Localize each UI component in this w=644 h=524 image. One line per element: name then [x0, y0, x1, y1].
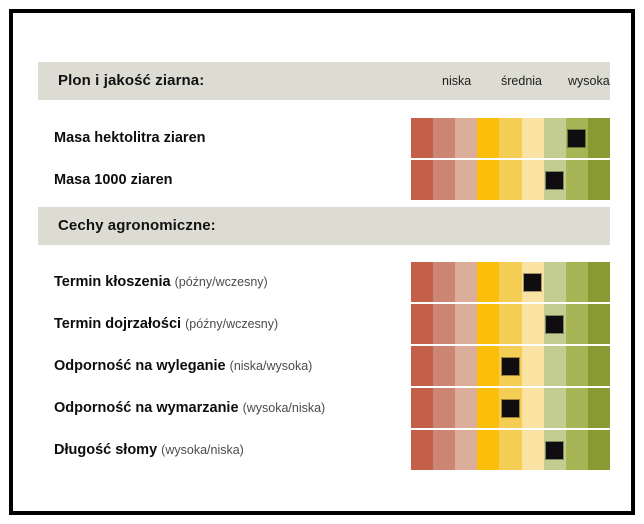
- section-header: Plon i jakość ziarna:niskaśredniawysoka: [38, 62, 610, 100]
- trait-scale-bar: [411, 388, 610, 428]
- trait-value-marker: [546, 442, 563, 459]
- scale-band-2: [433, 262, 455, 302]
- trait-scale-bar: [411, 118, 610, 158]
- trait-row-label: Termin kłoszenia (późny/wczesny): [54, 274, 268, 290]
- scale-band-3: [455, 262, 477, 302]
- scale-band-5: [499, 262, 521, 302]
- scale-legend: niskaśredniawysoka: [38, 74, 610, 92]
- trait-direction-note: (wysoka/niska): [243, 401, 326, 415]
- trait-name: Termin dojrzałości: [54, 316, 181, 332]
- screenshot-frame: Plon i jakość ziarna:niskaśredniawysokaM…: [0, 0, 644, 524]
- scale-band-1: [411, 118, 433, 158]
- scale-label-3: wysoka: [568, 74, 610, 88]
- trait-row-label: Termin dojrzałości (późny/wczesny): [54, 316, 278, 332]
- scale-band-6: [522, 388, 544, 428]
- trait-name: Masa 1000 ziaren: [54, 172, 173, 188]
- scale-band-6: [522, 304, 544, 344]
- section-title: Cechy agronomiczne:: [58, 217, 216, 234]
- scale-band-4: [477, 346, 499, 386]
- scale-band-2: [433, 388, 455, 428]
- scale-band-5: [499, 118, 521, 158]
- trait-row-label: Odporność na wyleganie (niska/wysoka): [54, 358, 312, 374]
- scale-band-9: [588, 388, 610, 428]
- trait-name: Termin kłoszenia: [54, 274, 171, 290]
- scale-band-3: [455, 430, 477, 470]
- scale-band-4: [477, 118, 499, 158]
- scale-band-6: [522, 430, 544, 470]
- scale-band-8: [566, 430, 588, 470]
- scale-band-8: [566, 160, 588, 200]
- trait-row-label: Odporność na wymarzanie (wysoka/niska): [54, 400, 325, 416]
- scale-band-3: [455, 118, 477, 158]
- scale-band-1: [411, 388, 433, 428]
- trait-value-marker: [502, 358, 519, 375]
- trait-name: Długość słomy: [54, 442, 157, 458]
- scale-band-9: [588, 262, 610, 302]
- scale-band-4: [477, 304, 499, 344]
- scale-band-6: [522, 346, 544, 386]
- scale-band-6: [522, 118, 544, 158]
- scale-band-4: [477, 160, 499, 200]
- section-header: Cechy agronomiczne:: [38, 207, 610, 245]
- scale-label-1: niska: [442, 74, 471, 88]
- trait-direction-note: (wysoka/niska): [161, 443, 244, 457]
- scale-band-2: [433, 430, 455, 470]
- scale-band-3: [455, 388, 477, 428]
- scale-band-6: [522, 160, 544, 200]
- scale-band-8: [566, 304, 588, 344]
- scale-band-4: [477, 262, 499, 302]
- scale-band-4: [477, 430, 499, 470]
- scale-band-1: [411, 346, 433, 386]
- trait-scale-bar: [411, 430, 610, 470]
- trait-scale-bar: [411, 346, 610, 386]
- variety-profile-sheet: Plon i jakość ziarna:niskaśredniawysokaM…: [22, 22, 622, 502]
- trait-row-label: Masa 1000 ziaren: [54, 172, 173, 188]
- scale-label-2: średnia: [501, 74, 542, 88]
- scale-band-7: [544, 118, 566, 158]
- trait-scale-bar: [411, 262, 610, 302]
- trait-scale-bar: [411, 160, 610, 200]
- scale-band-9: [588, 304, 610, 344]
- scale-band-9: [588, 346, 610, 386]
- trait-direction-note: (niska/wysoka): [230, 359, 313, 373]
- scale-band-3: [455, 304, 477, 344]
- scale-band-1: [411, 304, 433, 344]
- trait-value-marker: [502, 400, 519, 417]
- trait-row-label: Masa hektolitra ziaren: [54, 130, 206, 146]
- trait-value-marker: [546, 172, 563, 189]
- scale-band-9: [588, 160, 610, 200]
- scale-band-3: [455, 346, 477, 386]
- trait-name: Odporność na wyleganie: [54, 358, 226, 374]
- scale-band-1: [411, 430, 433, 470]
- trait-scale-bar: [411, 304, 610, 344]
- trait-name: Odporność na wymarzanie: [54, 400, 239, 416]
- scale-band-1: [411, 262, 433, 302]
- trait-row-label: Długość słomy (wysoka/niska): [54, 442, 244, 458]
- scale-band-8: [566, 346, 588, 386]
- scale-band-2: [433, 160, 455, 200]
- trait-value-marker: [568, 130, 585, 147]
- scale-band-7: [544, 346, 566, 386]
- scale-band-7: [544, 388, 566, 428]
- trait-value-marker: [524, 274, 541, 291]
- scale-band-4: [477, 388, 499, 428]
- scale-band-8: [566, 388, 588, 428]
- trait-direction-note: (późny/wczesny): [185, 317, 278, 331]
- scale-band-2: [433, 304, 455, 344]
- scale-band-2: [433, 118, 455, 158]
- scale-band-3: [455, 160, 477, 200]
- trait-direction-note: (późny/wczesny): [175, 275, 268, 289]
- trait-name: Masa hektolitra ziaren: [54, 130, 206, 146]
- scale-band-5: [499, 430, 521, 470]
- scale-band-5: [499, 304, 521, 344]
- scale-band-7: [544, 262, 566, 302]
- scale-band-5: [499, 160, 521, 200]
- scale-band-1: [411, 160, 433, 200]
- scale-band-9: [588, 118, 610, 158]
- scale-band-8: [566, 262, 588, 302]
- scale-band-9: [588, 430, 610, 470]
- trait-value-marker: [546, 316, 563, 333]
- scale-band-2: [433, 346, 455, 386]
